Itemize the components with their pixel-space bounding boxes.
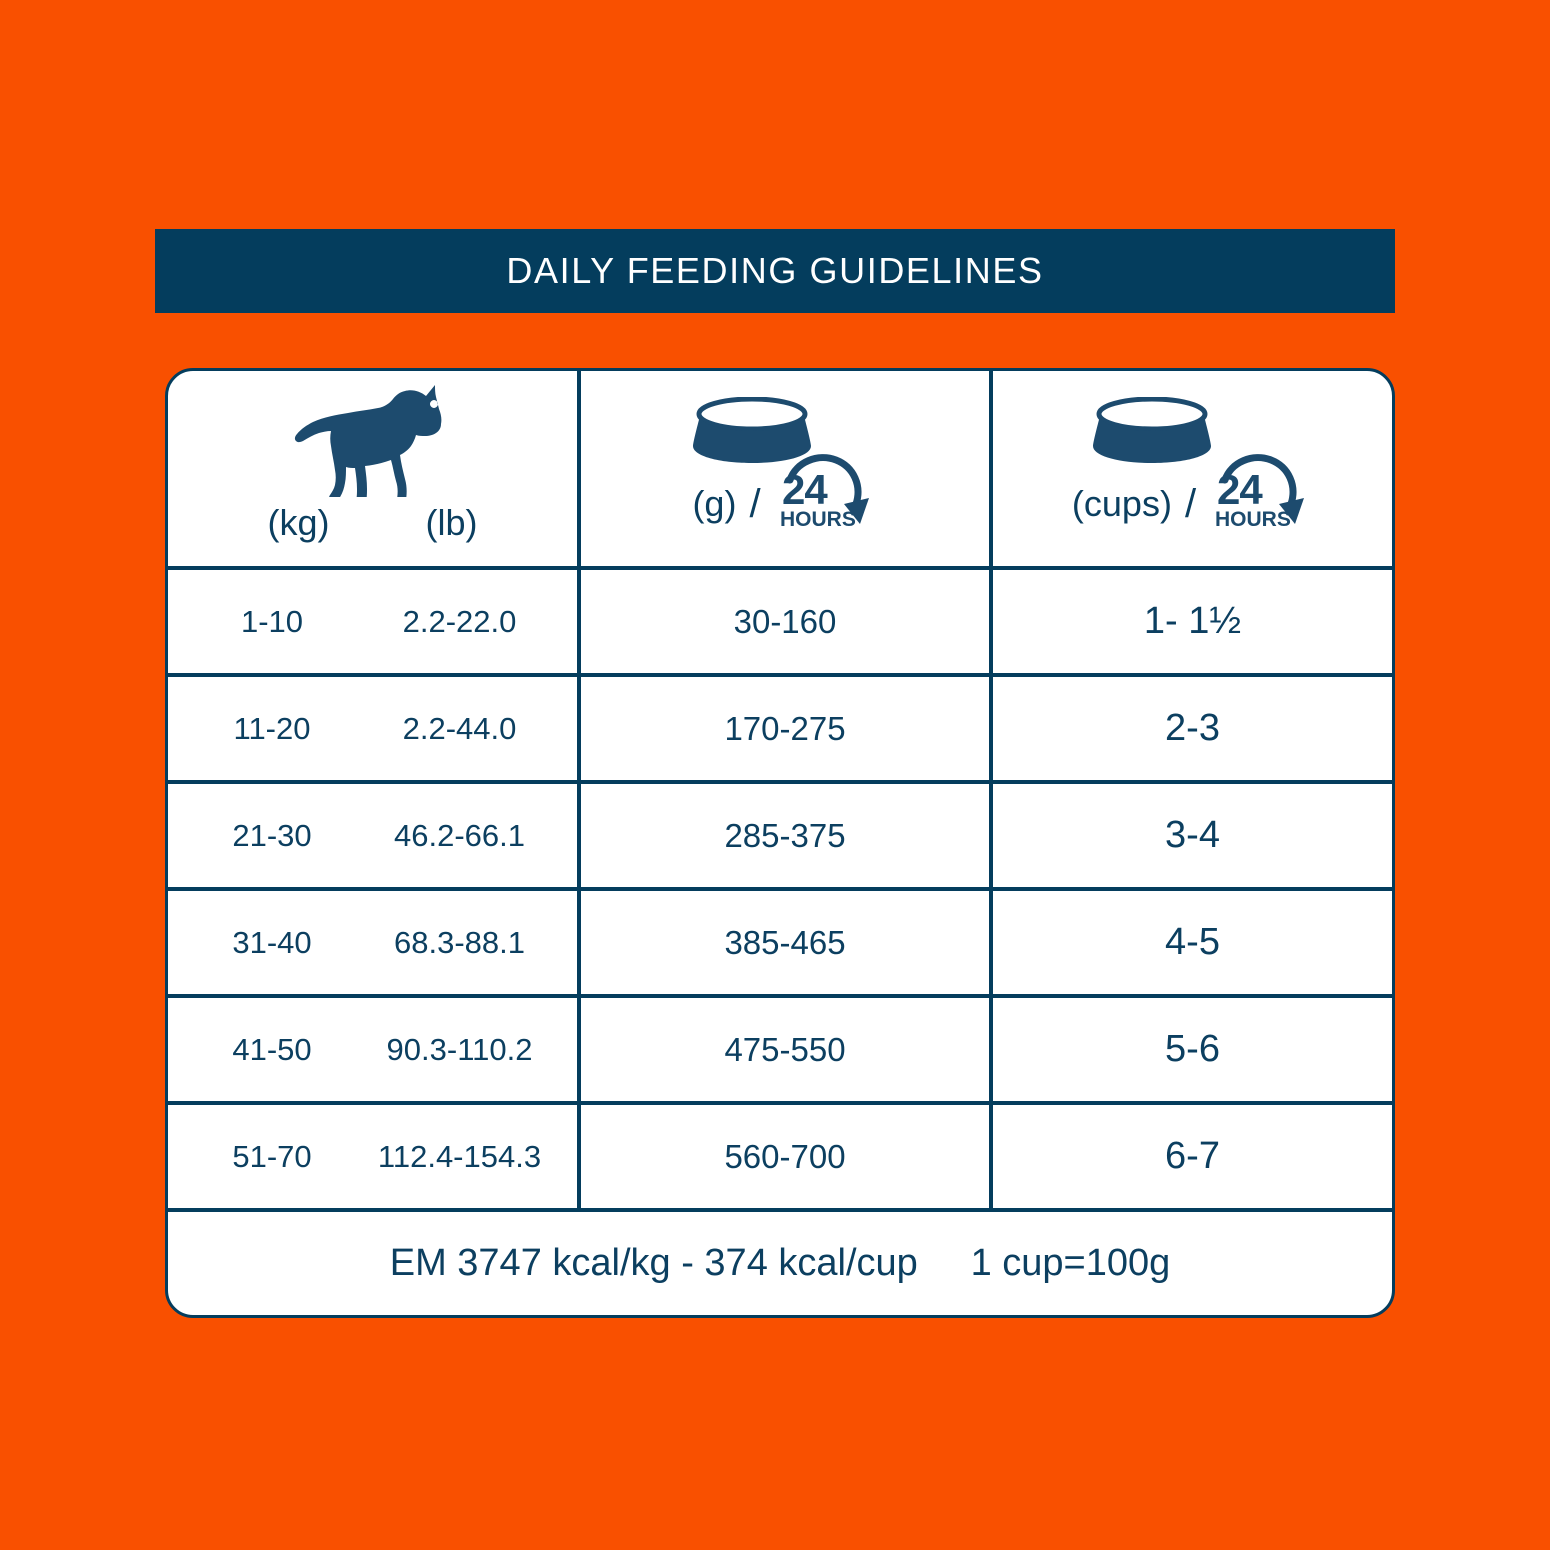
cell-grams: 475-550 bbox=[581, 998, 993, 1101]
cell-weight: 1-10 2.2-22.0 bbox=[168, 570, 581, 673]
cell-grams-value: 30-160 bbox=[734, 603, 837, 641]
cell-cups: 3-4 bbox=[993, 784, 1392, 887]
svg-text:HOURS: HOURS bbox=[780, 508, 856, 531]
title-bar: DAILY FEEDING GUIDELINES bbox=[155, 229, 1395, 313]
header-unit-lb: (lb) bbox=[426, 502, 478, 544]
cell-weight-kg: 31-40 bbox=[202, 925, 342, 961]
cell-grams-value: 285-375 bbox=[724, 817, 845, 855]
header-cell-grams: (g) / 24 HOURS bbox=[581, 371, 993, 566]
cell-cups: 2-3 bbox=[993, 677, 1392, 780]
feeding-table: (kg) (lb) bbox=[165, 368, 1395, 1318]
header-cell-cups: (cups) / 24 HOURS bbox=[993, 371, 1392, 566]
cell-cups-value: 3-4 bbox=[1165, 814, 1220, 857]
cell-weight-lb: 46.2-66.1 bbox=[342, 818, 577, 854]
dog-bowl-icon bbox=[1093, 397, 1211, 475]
cell-grams-value: 170-275 bbox=[724, 710, 845, 748]
cell-grams: 30-160 bbox=[581, 570, 993, 673]
cell-cups: 5-6 bbox=[993, 998, 1392, 1101]
cell-cups-value: 4-5 bbox=[1165, 921, 1220, 964]
cell-cups: 1- 1½ bbox=[993, 570, 1392, 673]
cell-cups-value: 1- 1½ bbox=[1144, 600, 1241, 643]
cell-weight: 31-40 68.3-88.1 bbox=[168, 891, 581, 994]
cell-weight: 21-30 46.2-66.1 bbox=[168, 784, 581, 887]
page-title: DAILY FEEDING GUIDELINES bbox=[506, 250, 1043, 292]
24-hours-icon: 24 HOURS bbox=[774, 454, 878, 538]
header-unit-kg: (kg) bbox=[268, 502, 330, 544]
cell-cups-value: 5-6 bbox=[1165, 1028, 1220, 1071]
table-header-row: (kg) (lb) bbox=[168, 371, 1392, 570]
header-separator-grams: / bbox=[749, 482, 760, 527]
cell-weight-lb: 2.2-22.0 bbox=[342, 604, 577, 640]
svg-text:HOURS: HOURS bbox=[1215, 508, 1291, 531]
table-row: 41-50 90.3-110.2 475-550 5-6 bbox=[168, 998, 1392, 1105]
cell-cups-value: 6-7 bbox=[1165, 1135, 1220, 1178]
cell-weight-lb: 2.2-44.0 bbox=[342, 711, 577, 747]
table-footer: EM 3747 kcal/kg - 374 kcal/cup 1 cup=100… bbox=[168, 1212, 1392, 1315]
feeding-guidelines-page: DAILY FEEDING GUIDELINES (kg) (lb) bbox=[0, 0, 1550, 1550]
cell-grams-value: 560-700 bbox=[724, 1138, 845, 1176]
table-row: 1-10 2.2-22.0 30-160 1- 1½ bbox=[168, 570, 1392, 677]
cell-grams: 170-275 bbox=[581, 677, 993, 780]
cell-weight: 51-70 112.4-154.3 bbox=[168, 1105, 581, 1208]
cell-weight-kg: 41-50 bbox=[202, 1032, 342, 1068]
header-unit-grams: (g) bbox=[692, 486, 736, 522]
cell-cups-value: 2-3 bbox=[1165, 707, 1220, 750]
cell-weight: 11-20 2.2-44.0 bbox=[168, 677, 581, 780]
table-row: 51-70 112.4-154.3 560-700 6-7 bbox=[168, 1105, 1392, 1212]
cell-weight-kg: 11-20 bbox=[202, 711, 342, 747]
table-row: 11-20 2.2-44.0 170-275 2-3 bbox=[168, 677, 1392, 784]
header-unit-cups: (cups) bbox=[1072, 486, 1172, 522]
24-hours-icon: 24 HOURS bbox=[1209, 454, 1313, 538]
header-separator-cups: / bbox=[1185, 482, 1196, 527]
cell-cups: 4-5 bbox=[993, 891, 1392, 994]
cell-grams: 560-700 bbox=[581, 1105, 993, 1208]
cell-grams-value: 385-465 bbox=[724, 924, 845, 962]
cell-weight-lb: 68.3-88.1 bbox=[342, 925, 577, 961]
dog-icon bbox=[288, 385, 458, 502]
table-row: 21-30 46.2-66.1 285-375 3-4 bbox=[168, 784, 1392, 891]
cell-cups: 6-7 bbox=[993, 1105, 1392, 1208]
cell-weight-kg: 21-30 bbox=[202, 818, 342, 854]
table-row: 31-40 68.3-88.1 385-465 4-5 bbox=[168, 891, 1392, 998]
header-cell-weight: (kg) (lb) bbox=[168, 371, 581, 566]
svg-text:24: 24 bbox=[782, 466, 828, 513]
cell-weight-kg: 51-70 bbox=[202, 1139, 342, 1175]
cell-grams-value: 475-550 bbox=[724, 1031, 845, 1069]
cell-weight: 41-50 90.3-110.2 bbox=[168, 998, 581, 1101]
cell-weight-lb: 90.3-110.2 bbox=[342, 1032, 577, 1068]
cell-weight-lb: 112.4-154.3 bbox=[342, 1139, 577, 1175]
cell-grams: 385-465 bbox=[581, 891, 993, 994]
cell-grams: 285-375 bbox=[581, 784, 993, 887]
cell-weight-kg: 1-10 bbox=[202, 604, 342, 640]
svg-text:24: 24 bbox=[1217, 466, 1263, 513]
energy-content-note: EM 3747 kcal/kg - 374 kcal/cup 1 cup=100… bbox=[390, 1242, 1171, 1285]
